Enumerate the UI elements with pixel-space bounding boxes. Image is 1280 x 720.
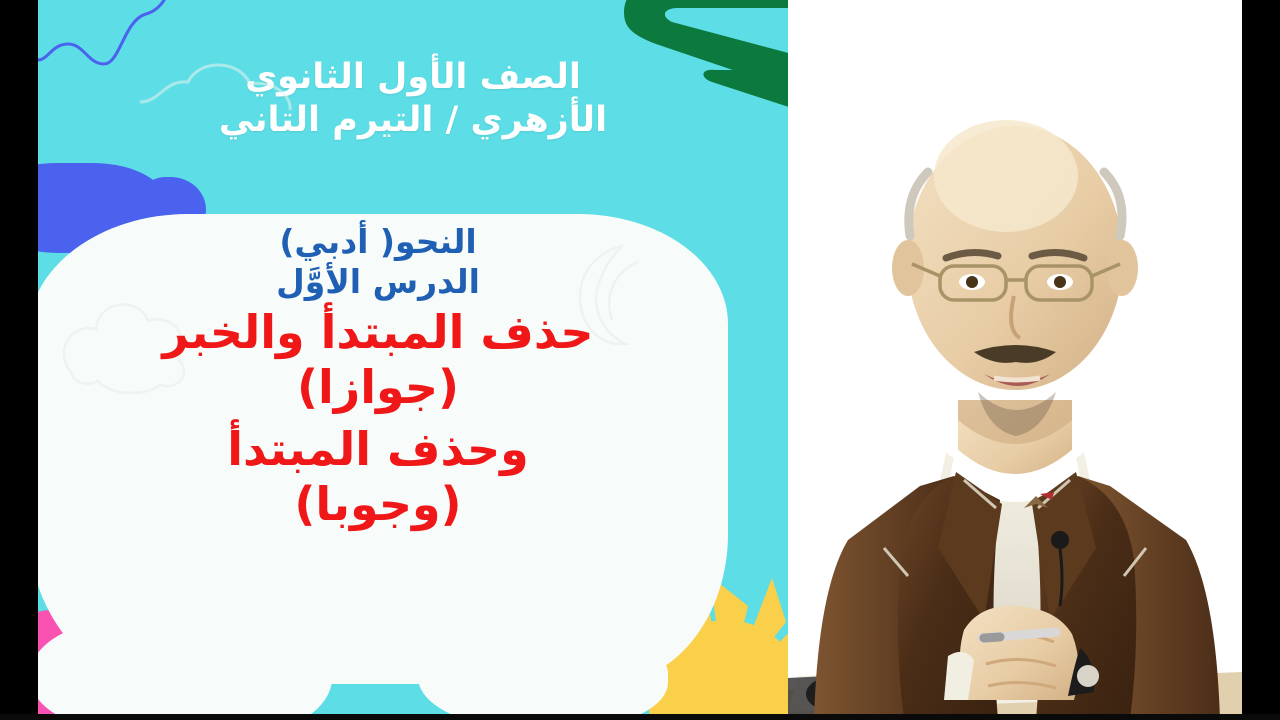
presenter-video-area (788, 0, 1242, 720)
subject-label: النحو( أدبي) (28, 222, 728, 262)
presenter-photo (788, 0, 1242, 720)
letterbox-right (1242, 0, 1280, 720)
lesson-title-primary: حذف المبتدأ والخبر (28, 305, 728, 360)
lesson-number-label: الدرس الأوَّل (28, 262, 728, 302)
letterbox-left (0, 0, 38, 720)
slide-stage: الصف الأول الثانوي الأزهري / التيرم التا… (0, 0, 1280, 720)
lesson-title-secondary-qualifier: (وجوبا) (28, 477, 728, 532)
letterbox-bottom (0, 714, 1280, 720)
card-text-block: النحو( أدبي) الدرس الأوَّل حذف المبتدأ و… (28, 222, 728, 532)
lesson-title-secondary: وحذف المبتدأ (28, 422, 728, 477)
ghost-cloud-small-icon (140, 40, 310, 110)
lesson-title-primary-qualifier: (جوازا) (28, 360, 728, 415)
